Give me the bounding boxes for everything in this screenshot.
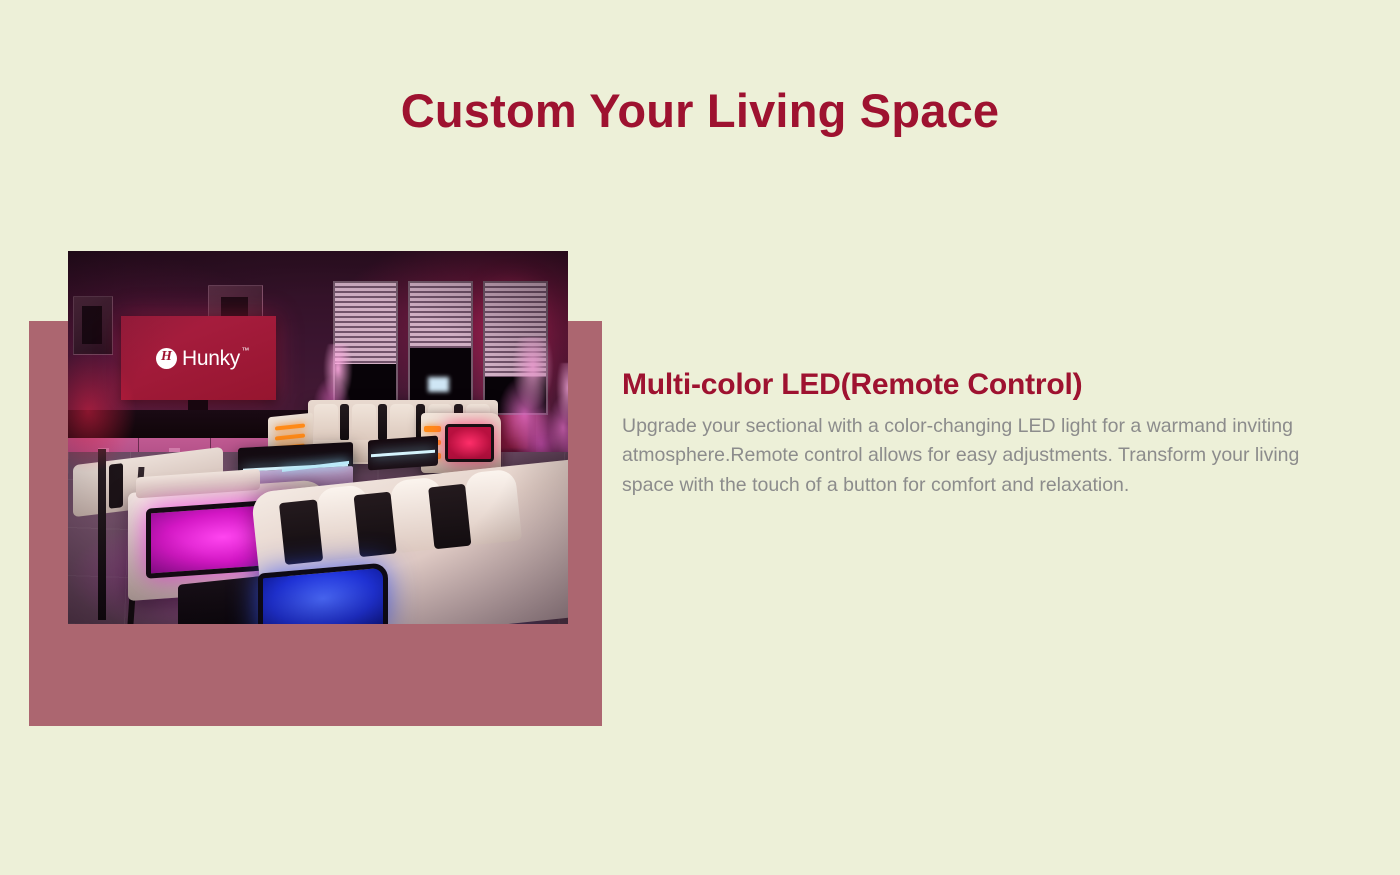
sofa-stripe [428, 483, 472, 549]
trademark-icon: ™ [241, 347, 249, 355]
sofa-stripe [340, 404, 349, 441]
sofa-stripe [279, 499, 323, 565]
page-title: Custom Your Living Space [0, 84, 1400, 138]
orange-led-strip [275, 423, 305, 431]
hunky-logo-icon: H [156, 348, 177, 369]
sofa-cushion [390, 404, 415, 440]
hunky-logo-letter: H [161, 350, 172, 364]
sofa-stripe [378, 404, 387, 441]
photo-scene: H Hunky ™ [68, 251, 568, 624]
red-ambient-glow [68, 348, 138, 475]
hunky-logo-text: Hunky ™ [182, 348, 240, 369]
tv-screen: H Hunky ™ [121, 316, 276, 400]
window [408, 281, 473, 415]
orange-led-strip [275, 433, 305, 441]
living-room-photo: H Hunky ™ [68, 251, 568, 624]
promo-banner: Custom Your Living Space [0, 0, 1400, 875]
sofa-stripe [353, 491, 397, 557]
cyan-led-strip [371, 449, 435, 457]
feature-heading: Multi-color LED(Remote Control) [622, 366, 1322, 404]
red-led-panel [445, 424, 495, 462]
sofa-cushion [352, 404, 377, 440]
wall-picture-frame [73, 296, 113, 356]
window-glow [428, 377, 449, 393]
feature-text-column: Multi-color LED(Remote Control) Upgrade … [622, 366, 1322, 500]
orange-led-strip [424, 426, 442, 432]
side-coffee-table [368, 435, 438, 470]
window-blinds [410, 283, 471, 348]
feature-description: Upgrade your sectional with a color-chan… [622, 412, 1314, 501]
sofa-cushion [314, 404, 339, 440]
sofa-cushion [464, 468, 522, 545]
blue-led-panel [258, 562, 388, 624]
wall-mounted-tv: H Hunky ™ [121, 316, 276, 400]
